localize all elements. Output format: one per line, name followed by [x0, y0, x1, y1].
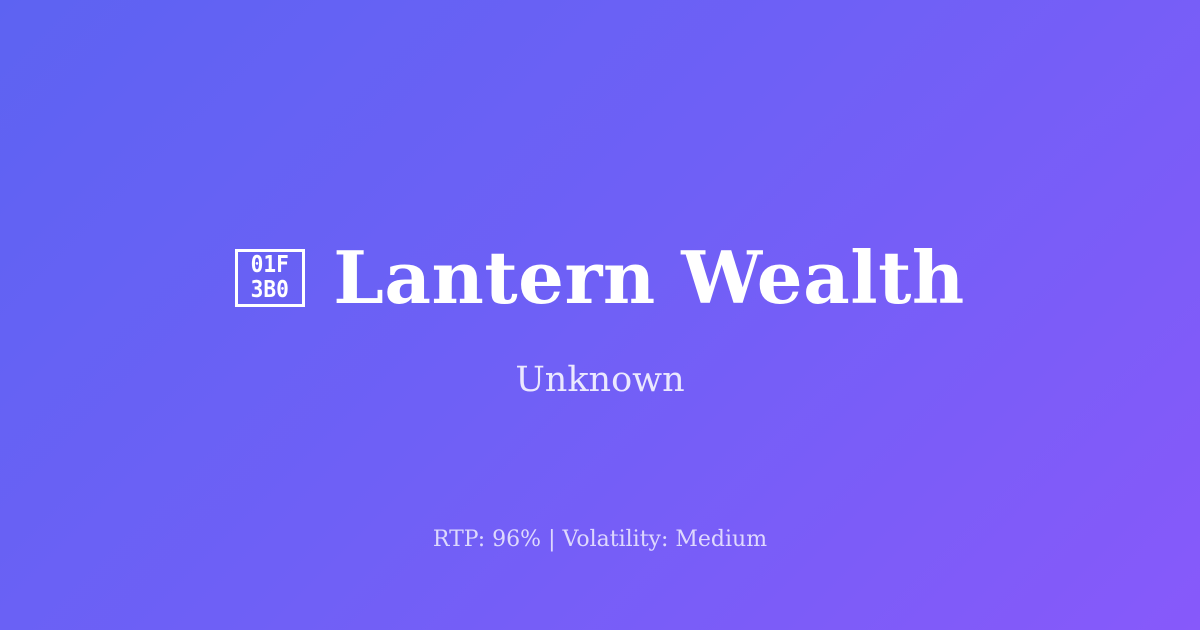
- game-title: Lantern Wealth: [333, 242, 964, 314]
- title-row: 01F 3B0 Lantern Wealth: [0, 232, 1200, 324]
- game-meta-line: RTP: 96% | Volatility: Medium: [0, 529, 1200, 551]
- og-share-card: 01F 3B0 Lantern Wealth Unknown RTP: 96% …: [0, 0, 1200, 630]
- game-subtitle: Unknown: [0, 363, 1200, 398]
- emoji-codepoint-line-2: 3B0: [251, 278, 289, 303]
- emoji-codepoint-line-1: 01F: [251, 253, 289, 278]
- slot-machine-emoji: 01F 3B0: [235, 249, 305, 307]
